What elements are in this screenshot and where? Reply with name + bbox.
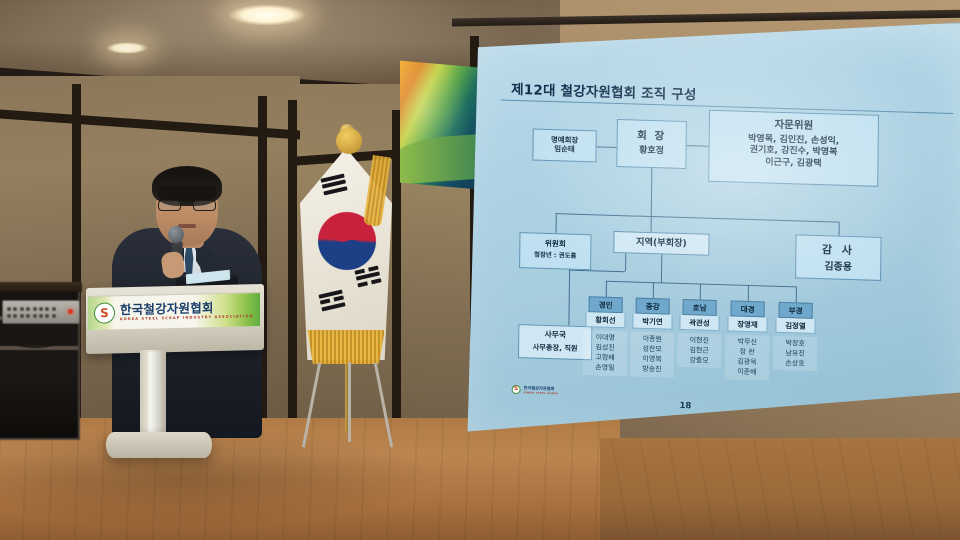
footer-logo-name-kr: 한국철강자원협회 <box>524 385 555 391</box>
connector <box>556 213 557 233</box>
speaker-eyebrow <box>194 196 214 199</box>
region-name: 호남 <box>683 299 717 316</box>
connector <box>700 284 701 300</box>
av-rack-top <box>0 282 82 292</box>
region-members: 이종원 성찬모 이영복 방승진 <box>630 331 675 377</box>
region-title: 지역(부회장) <box>614 236 708 250</box>
connector <box>653 282 654 298</box>
region-leader: 황희선 <box>585 312 625 328</box>
connector <box>687 145 709 147</box>
wall-panel-divider <box>288 100 297 430</box>
association-logo-icon: S <box>94 302 115 323</box>
connector <box>568 270 570 326</box>
region-name: 부경 <box>779 302 813 319</box>
node-chairman: 회 장 황호정 <box>616 119 687 169</box>
audio-mixer <box>2 300 80 324</box>
committee-detail: 청장년 : 권도흠 <box>520 251 590 261</box>
speaker-hand <box>160 251 185 280</box>
podium-banner: S 한국철강자원협회 KOREA STEEL SCRAP INDUSTRY AS… <box>88 292 260 330</box>
microphone-icon <box>168 226 184 243</box>
flag-fringe <box>300 330 392 364</box>
advisory-title: 자문위원 <box>710 117 878 135</box>
region-members: 이대명 김성진 고형배 손영일 <box>583 330 628 376</box>
logo-letter: S <box>100 306 109 318</box>
conference-room-scene: S 한국철강자원협회 KOREA STEEL SCRAP INDUSTRY AS… <box>0 0 960 540</box>
member: 강중모 <box>677 355 721 366</box>
chairman-title: 회 장 <box>618 129 686 144</box>
podium-text-block: 한국철강자원협회 KOREA STEEL SCRAP INDUSTRY ASSO… <box>120 301 254 322</box>
member: 손영일 <box>583 362 627 373</box>
region-members: 박무신 정 완 김광욱 이준배 <box>725 334 770 380</box>
slide-content: 제12대 철강자원협회 조직 구성 <box>447 22 960 458</box>
node-honorary-chairman: 명예회장 임순태 <box>532 128 596 162</box>
office-detail: 사무총장, 직원 <box>519 342 591 353</box>
office-title: 사무국 <box>519 329 591 341</box>
connector <box>651 216 652 232</box>
connector <box>651 168 653 216</box>
region-leader: 박기연 <box>632 314 672 330</box>
honorary-name: 임순태 <box>533 144 595 155</box>
connector <box>796 286 797 302</box>
connector <box>661 254 663 282</box>
region-name: 대경 <box>731 300 765 317</box>
member: 이준배 <box>725 367 769 378</box>
connector <box>748 285 749 301</box>
node-secretariat: 사무국 사무총장, 직원 <box>518 324 592 360</box>
projection-screen: 제12대 철강자원협회 조직 구성 <box>452 22 960 442</box>
podium-org-name-en: KOREA STEEL SCRAP INDUSTRY ASSOCIATION <box>120 315 254 322</box>
region-column: 부경 김정열 박장호 남유진 손상호 <box>773 302 818 372</box>
node-advisory-committee: 자문위원 박영목, 김인진, 손성익, 권기호, 강진수, 박영복 이근구, 김… <box>708 110 879 187</box>
node-region-vice-chairman: 지역(부회장) <box>613 231 709 256</box>
connector <box>597 146 617 148</box>
slide-footer-logo: S 한국철강자원협회 KOREA STEEL SCRAP <box>512 382 566 398</box>
eyeglasses-icon <box>158 200 216 211</box>
downlight-icon-2 <box>106 42 148 54</box>
cable <box>6 326 64 348</box>
podium-glass-insert <box>148 352 161 434</box>
podium-base <box>106 432 212 458</box>
member: 손상호 <box>773 358 817 369</box>
region-leader: 장영재 <box>727 316 767 332</box>
slide-page-number: 18 <box>679 401 691 411</box>
flag-tassel <box>336 128 362 154</box>
footer-logo-text: 한국철강자원협회 KOREA STEEL SCRAP <box>524 385 559 395</box>
speaker-eyebrow <box>160 196 180 199</box>
member: 방승진 <box>630 364 674 375</box>
connector <box>569 270 625 273</box>
region-name: 충강 <box>636 298 670 315</box>
node-auditor: 감 사 김종용 <box>795 234 882 281</box>
region-leader: 곽관성 <box>679 315 719 331</box>
auditor-title: 감 사 <box>796 242 880 258</box>
region-leader: 김정열 <box>775 318 815 334</box>
connector <box>839 222 840 236</box>
footer-logo-name-en: KOREA STEEL SCRAP <box>524 391 559 395</box>
flag-stand-leg <box>348 362 351 442</box>
auditor-name: 김종용 <box>796 260 880 275</box>
power-led-icon <box>68 309 73 314</box>
chairman-name: 황호정 <box>617 145 685 158</box>
region-members: 박장호 남유진 손상호 <box>773 336 817 372</box>
region-members: 이현진 김현근 강중모 <box>677 333 721 369</box>
connector <box>606 281 607 297</box>
connector <box>556 213 839 223</box>
footer-logo-icon: S <box>512 384 521 393</box>
region-column: 대경 장영재 박무신 정 완 김광욱 이준배 <box>725 300 770 380</box>
region-column: 충강 박기연 이종원 성찬모 이영복 방승진 <box>630 297 675 377</box>
region-column: 호남 곽관성 이현진 김현근 강중모 <box>677 299 722 369</box>
downlight-icon-1 <box>228 4 306 26</box>
region-name: 경인 <box>589 296 623 313</box>
region-column: 경인 황희선 이대명 김성진 고형배 손영일 <box>583 296 628 376</box>
connector <box>625 253 626 271</box>
node-committee: 위원회 청장년 : 권도흠 <box>519 232 591 270</box>
committee-title: 위원회 <box>520 238 590 250</box>
